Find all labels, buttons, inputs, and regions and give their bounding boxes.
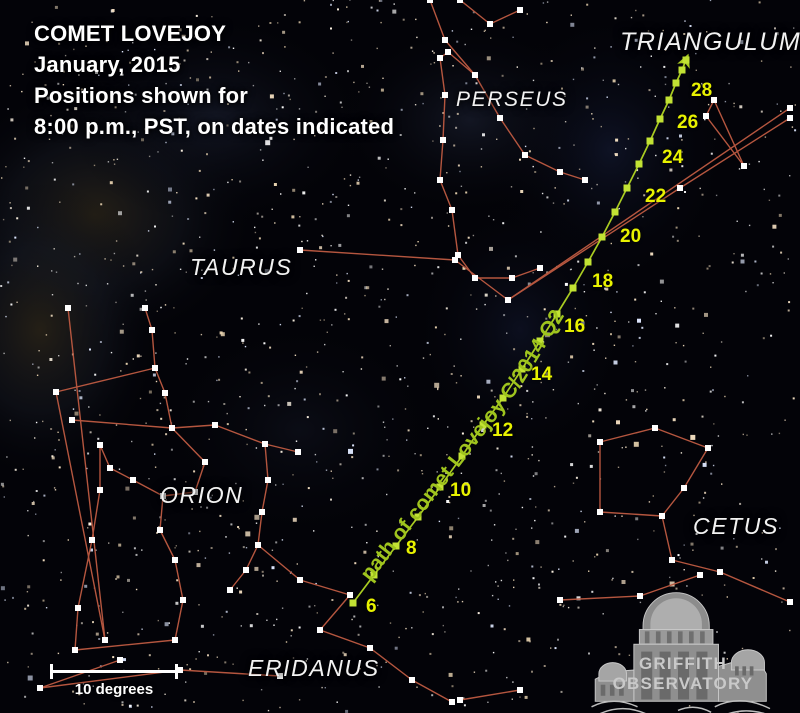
star (440, 97, 441, 98)
star (533, 577, 535, 579)
star (710, 473, 712, 475)
star (55, 449, 56, 450)
star (497, 448, 499, 450)
star (434, 383, 439, 388)
star (352, 444, 354, 446)
star (626, 399, 627, 400)
star (676, 588, 678, 590)
bright-star (427, 0, 433, 3)
star (171, 36, 172, 37)
star (645, 410, 646, 411)
star (112, 656, 114, 658)
star (578, 403, 579, 404)
star (211, 51, 212, 52)
star (54, 487, 55, 488)
star (359, 177, 360, 178)
star (520, 190, 523, 193)
star (111, 352, 112, 353)
star (272, 550, 273, 551)
star (639, 337, 641, 339)
comet-position-marker (599, 234, 606, 241)
star (392, 418, 393, 419)
star (411, 627, 412, 628)
star (690, 435, 695, 440)
star (411, 207, 412, 208)
star (416, 687, 417, 688)
star (85, 46, 86, 47)
star (573, 560, 574, 561)
star (592, 343, 594, 345)
star (718, 435, 719, 436)
star (299, 21, 301, 23)
star (58, 439, 59, 440)
star (293, 320, 295, 322)
star (596, 554, 598, 556)
star (414, 192, 415, 193)
star (246, 429, 247, 430)
star (765, 561, 768, 564)
star (612, 578, 613, 579)
star (400, 134, 402, 136)
star (206, 58, 208, 60)
star (237, 61, 239, 63)
star (245, 531, 250, 536)
star (449, 673, 453, 677)
star (702, 416, 704, 418)
star (706, 31, 707, 32)
star (227, 125, 229, 127)
star (789, 630, 790, 631)
star (155, 467, 156, 468)
star (149, 391, 152, 394)
star (302, 506, 303, 507)
star (504, 480, 505, 481)
star (45, 84, 47, 86)
star (269, 22, 271, 24)
star (54, 179, 56, 181)
star (254, 567, 258, 571)
star (485, 294, 488, 297)
star (739, 503, 741, 505)
star (653, 530, 654, 531)
star (749, 164, 750, 165)
star (465, 82, 467, 84)
star (5, 166, 6, 167)
star (495, 581, 496, 582)
star (648, 30, 649, 31)
star (478, 612, 480, 614)
star (319, 393, 321, 395)
star (363, 551, 366, 554)
star (266, 620, 267, 621)
star (72, 183, 74, 185)
star (483, 431, 485, 433)
star (495, 295, 496, 296)
star (69, 147, 71, 149)
star (400, 208, 402, 210)
star (739, 168, 740, 169)
star (7, 662, 8, 663)
star (742, 401, 744, 403)
star (780, 111, 781, 112)
star (716, 631, 717, 632)
star (433, 415, 435, 417)
star (564, 536, 566, 538)
star (200, 506, 201, 507)
star (307, 658, 308, 659)
star (601, 126, 602, 127)
star (165, 83, 166, 84)
star (644, 291, 646, 293)
star (649, 89, 651, 91)
star (604, 393, 605, 394)
star (615, 139, 618, 142)
star (448, 225, 449, 226)
star (34, 61, 35, 62)
star (417, 241, 418, 242)
star (127, 579, 130, 582)
star (3, 353, 4, 354)
star (621, 516, 622, 517)
star (63, 71, 65, 73)
star (553, 389, 554, 390)
star (448, 116, 450, 118)
star (89, 132, 90, 133)
star (377, 468, 379, 470)
bright-star (72, 647, 78, 653)
star (384, 299, 385, 300)
star (573, 79, 574, 80)
star (470, 570, 471, 571)
comet-position-marker (415, 514, 422, 521)
star (775, 570, 776, 571)
star (378, 686, 379, 687)
star (711, 153, 713, 155)
star (733, 106, 734, 107)
comet-position-marker (657, 116, 664, 123)
star (444, 631, 445, 632)
star (230, 523, 232, 525)
star (485, 500, 487, 502)
star (195, 197, 197, 199)
star (571, 15, 572, 16)
star (353, 433, 355, 435)
star (553, 103, 554, 104)
bright-star (659, 513, 665, 519)
star (123, 324, 124, 325)
star (133, 517, 136, 520)
star (52, 294, 53, 295)
star (677, 240, 679, 242)
star (324, 319, 325, 320)
star (482, 133, 485, 136)
bright-star (277, 673, 283, 679)
star (598, 451, 599, 452)
star (631, 571, 633, 573)
star (404, 377, 405, 378)
star (122, 701, 124, 703)
star (509, 605, 510, 606)
star (616, 291, 617, 292)
bright-star (295, 449, 301, 455)
star (332, 478, 333, 479)
star (339, 671, 340, 672)
star (635, 39, 638, 42)
star (146, 299, 147, 300)
star (325, 687, 326, 688)
star (736, 546, 738, 548)
star (414, 265, 415, 266)
star (321, 687, 322, 688)
star (437, 388, 438, 389)
comet-position-marker (585, 259, 592, 266)
star (444, 334, 445, 335)
star (62, 133, 63, 134)
star (24, 696, 26, 698)
bright-star (440, 137, 446, 143)
star (468, 237, 470, 239)
star (205, 557, 206, 558)
comet-position-marker (624, 185, 631, 192)
star (136, 255, 138, 257)
star (232, 664, 233, 665)
star (9, 241, 11, 243)
star (93, 686, 94, 687)
star (529, 498, 531, 500)
comet-position-marker (647, 138, 654, 145)
star (123, 658, 126, 661)
star (107, 632, 108, 633)
star (36, 422, 37, 423)
star (290, 99, 291, 100)
star (258, 323, 259, 324)
star (320, 128, 322, 130)
star (584, 291, 585, 292)
star (713, 423, 714, 424)
comet-position-marker (570, 285, 577, 292)
star (362, 477, 364, 479)
star (794, 129, 796, 131)
star (581, 67, 582, 68)
star (199, 651, 200, 652)
star (622, 580, 626, 584)
star (727, 596, 728, 597)
star (533, 80, 534, 81)
bright-star (69, 417, 75, 423)
star (284, 14, 286, 16)
star (599, 408, 602, 411)
star (635, 517, 638, 520)
star (186, 272, 187, 273)
star (779, 433, 780, 434)
star (27, 605, 29, 607)
star (6, 456, 7, 457)
star (494, 396, 495, 397)
star (401, 109, 403, 111)
star (465, 242, 467, 244)
star (559, 604, 561, 606)
bright-star (677, 185, 683, 191)
star (493, 219, 494, 220)
bright-star (192, 489, 198, 495)
star (461, 186, 462, 187)
star (233, 268, 235, 270)
star (416, 37, 417, 38)
star (108, 542, 109, 543)
star (616, 420, 620, 424)
star (68, 539, 69, 540)
star (187, 218, 189, 220)
star (684, 569, 685, 570)
star (753, 577, 755, 579)
bright-star (437, 55, 443, 61)
star (88, 675, 89, 676)
star (348, 205, 349, 206)
star (145, 670, 146, 671)
star (432, 51, 433, 52)
star (281, 451, 283, 453)
star (166, 499, 167, 500)
star (667, 137, 669, 139)
star (388, 456, 389, 457)
star (81, 622, 83, 624)
star (313, 530, 314, 531)
star (193, 470, 195, 472)
star (332, 194, 333, 195)
star (58, 653, 59, 654)
star (280, 324, 281, 325)
star (156, 409, 158, 411)
star (75, 412, 79, 416)
star (469, 453, 471, 455)
star (582, 370, 584, 372)
star (173, 250, 176, 253)
star (145, 290, 146, 291)
star (789, 175, 790, 176)
star (196, 15, 198, 17)
star (419, 594, 421, 596)
star (618, 653, 620, 655)
star (390, 345, 391, 346)
star (225, 536, 226, 537)
star (540, 63, 542, 65)
star (212, 495, 213, 496)
star (561, 691, 563, 693)
star (333, 0, 334, 1)
star (268, 395, 270, 397)
star (615, 515, 616, 516)
star (330, 28, 332, 30)
star (174, 332, 175, 333)
star (710, 367, 711, 368)
star (233, 221, 234, 222)
star (457, 113, 459, 115)
star (434, 62, 435, 63)
star (291, 635, 292, 636)
star (775, 548, 777, 550)
bright-star (255, 542, 261, 548)
star (199, 170, 201, 172)
comet-position-marker (612, 209, 619, 216)
star (460, 375, 461, 376)
star (153, 374, 156, 377)
star (565, 283, 568, 286)
star (258, 25, 259, 26)
star (614, 345, 615, 346)
star (544, 308, 546, 310)
star (336, 274, 337, 275)
bright-star (787, 105, 793, 111)
bright-star (681, 485, 687, 491)
star (770, 273, 771, 274)
comet-position-marker (371, 572, 378, 579)
star (94, 165, 95, 166)
sky-map: path of comet Lovejoy C/2014 Q2 (0, 0, 800, 713)
star (333, 429, 337, 433)
star (637, 178, 638, 179)
star (758, 161, 759, 162)
star (209, 77, 211, 79)
star (606, 549, 609, 552)
star (306, 660, 307, 661)
star (304, 0, 305, 1)
bright-star (162, 390, 168, 396)
star (117, 575, 120, 578)
star (515, 255, 517, 257)
star (171, 449, 173, 451)
star (190, 249, 193, 252)
star (533, 475, 534, 476)
star (471, 29, 472, 30)
star (185, 681, 186, 682)
star (393, 571, 394, 572)
bright-star (472, 275, 478, 281)
star (781, 601, 782, 602)
star (386, 494, 387, 495)
star (207, 654, 209, 656)
star (134, 547, 136, 549)
star (184, 60, 186, 62)
star (396, 316, 397, 317)
star (614, 153, 615, 154)
star (283, 93, 284, 94)
star (793, 27, 794, 28)
star (118, 544, 121, 547)
star (95, 71, 98, 74)
bright-star (265, 477, 271, 483)
star (544, 665, 546, 667)
star (749, 225, 750, 226)
star (376, 665, 377, 666)
star (317, 351, 318, 352)
star (324, 344, 325, 345)
star (28, 676, 33, 681)
star (417, 539, 418, 540)
star (625, 447, 626, 448)
star (663, 66, 665, 68)
star (288, 95, 290, 97)
bright-star (741, 163, 747, 169)
star (128, 84, 129, 85)
star (157, 151, 158, 152)
star (446, 172, 447, 173)
star (666, 363, 668, 365)
star (415, 19, 416, 20)
star (31, 653, 33, 655)
star (31, 22, 32, 23)
star (9, 202, 10, 203)
star (123, 670, 124, 671)
